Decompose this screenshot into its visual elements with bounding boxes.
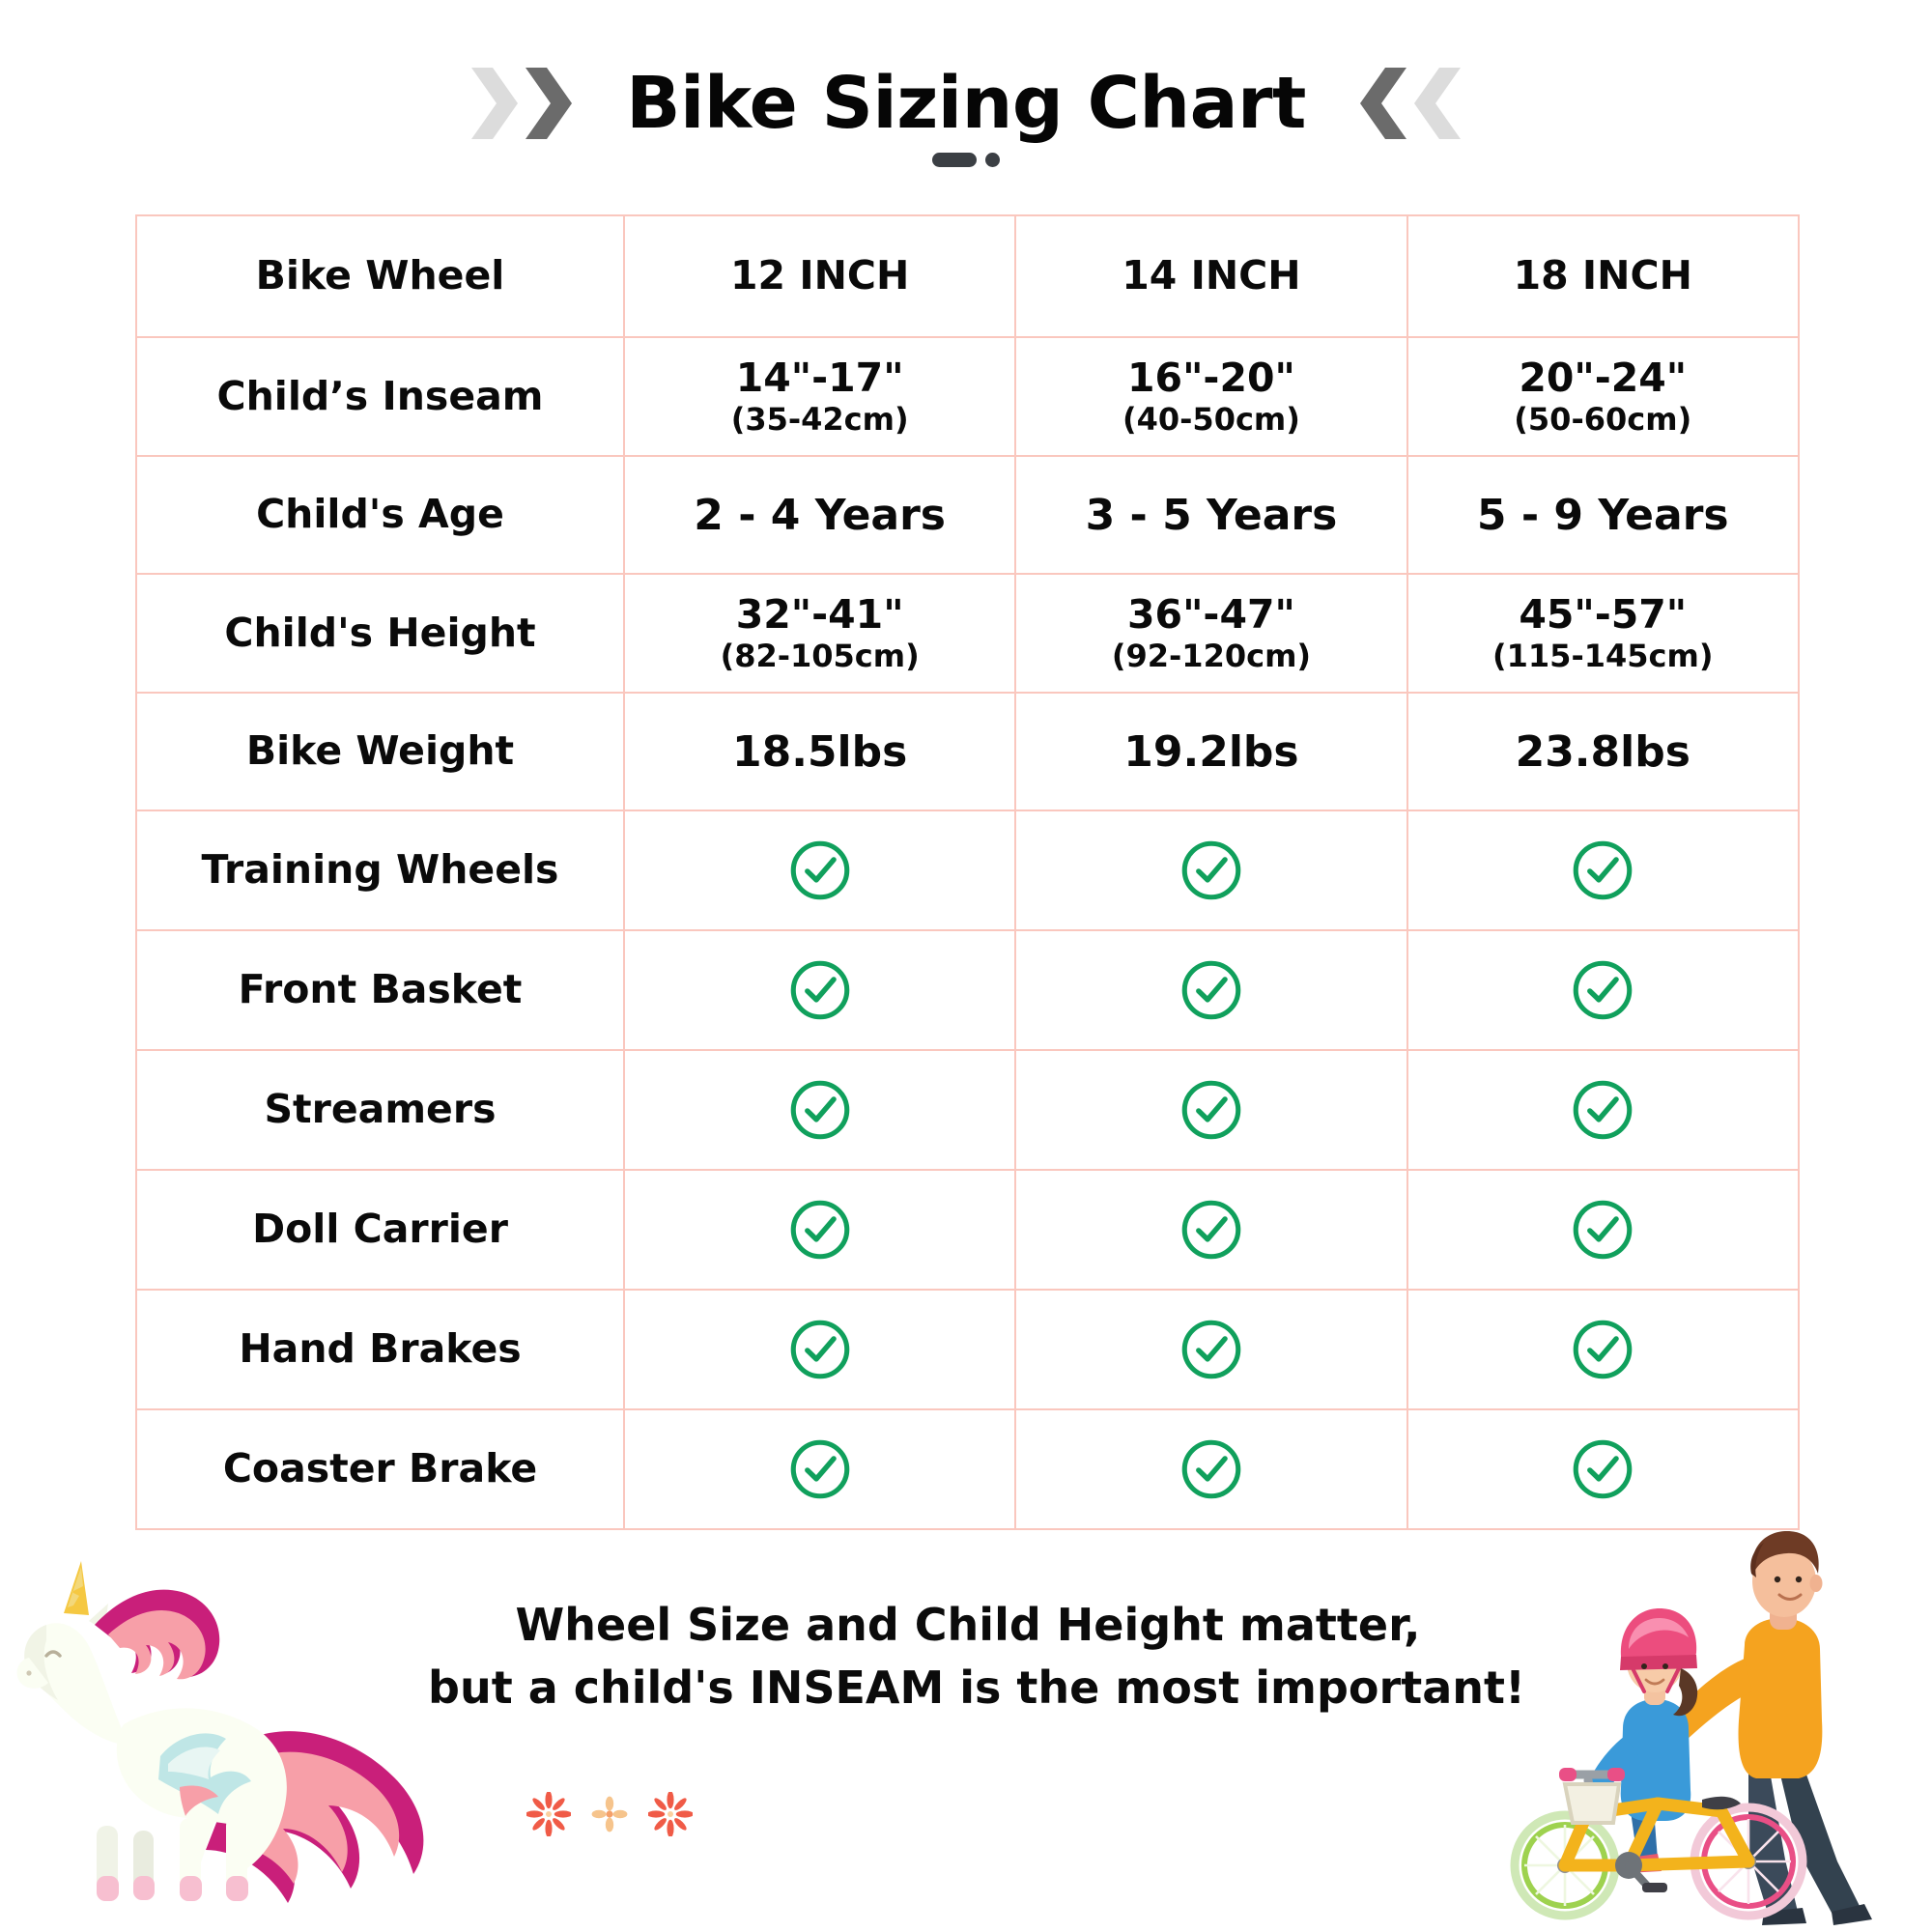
left-chevron-group	[468, 66, 574, 141]
cell-front-basket-18	[1407, 930, 1799, 1050]
column-header-14-inch: 14 INCH	[1015, 215, 1406, 337]
column-header-12-inch: 12 INCH	[624, 215, 1015, 337]
row-label-front-basket: Front Basket	[136, 930, 624, 1050]
cell-age-18: 5 - 9 Years	[1407, 456, 1799, 574]
check-circle-icon	[1179, 1437, 1243, 1501]
check-circle-icon	[788, 1198, 852, 1262]
check-circle-icon	[1179, 1318, 1243, 1381]
row-label-childs-age: Child's Age	[136, 456, 624, 574]
flower-red-icon	[526, 1792, 571, 1836]
column-header-18-inch: 18 INCH	[1407, 215, 1799, 337]
row-label-training-wheels: Training Wheels	[136, 810, 624, 930]
cell-doll-carrier-12	[624, 1170, 1015, 1290]
table-row-front-basket: Front Basket	[136, 930, 1799, 1050]
cell-hand-brakes-14	[1015, 1290, 1406, 1409]
cell-streamers-12	[624, 1050, 1015, 1170]
unicorn-illustration	[8, 1536, 471, 1922]
table-row-streamers: Streamers	[136, 1050, 1799, 1170]
cell-hand-brakes-12	[624, 1290, 1015, 1409]
chevron-right-light-icon	[468, 66, 520, 141]
parent-child-bike-illustration	[1459, 1521, 1922, 1932]
cell-inseam-18-cm: (50-60cm)	[1408, 402, 1798, 438]
table-row-childs-height: Child's Height 32"-41" (82-105cm) 36"-47…	[136, 574, 1799, 693]
cell-front-basket-12	[624, 930, 1015, 1050]
cell-weight-12: 18.5lbs	[624, 693, 1015, 810]
cell-coaster-brake-14	[1015, 1409, 1406, 1529]
cell-height-12-inches: 32"-41"	[736, 591, 904, 638]
check-circle-icon	[1179, 838, 1243, 902]
cell-height-14-inches: 36"-47"	[1127, 591, 1295, 638]
cell-inseam-14-inches: 16"-20"	[1127, 355, 1295, 401]
cell-hand-brakes-18	[1407, 1290, 1799, 1409]
row-label-childs-inseam: Child’s Inseam	[136, 337, 624, 456]
table-row-bike-weight: Bike Weight 18.5lbs 19.2lbs 23.8lbs	[136, 693, 1799, 810]
page-header: Bike Sizing Chart	[0, 50, 1932, 156]
cell-weight-14: 19.2lbs	[1015, 693, 1406, 810]
check-circle-icon	[788, 1437, 852, 1501]
cell-height-14-cm: (92-120cm)	[1016, 639, 1406, 674]
cell-streamers-14	[1015, 1050, 1406, 1170]
cell-height-18-inches: 45"-57"	[1519, 591, 1687, 638]
check-circle-icon	[788, 1318, 852, 1381]
table-row-hand-brakes: Hand Brakes	[136, 1290, 1799, 1409]
bike-sizing-chart-page: Bike Sizing Chart Bike Wheel 12 INCH 14 …	[0, 0, 1932, 1932]
check-circle-icon	[1571, 1078, 1634, 1142]
dot-decoration	[985, 153, 1000, 167]
table-row-childs-inseam: Child’s Inseam 14"-17" (35-42cm) 16"-20"…	[136, 337, 1799, 456]
cell-doll-carrier-14	[1015, 1170, 1406, 1290]
row-label-streamers: Streamers	[136, 1050, 624, 1170]
check-circle-icon	[1179, 1078, 1243, 1142]
flower-red-icon	[648, 1792, 693, 1836]
page-title: Bike Sizing Chart	[626, 68, 1306, 139]
check-circle-icon	[788, 1078, 852, 1142]
cell-inseam-18: 20"-24" (50-60cm)	[1407, 337, 1799, 456]
cell-training-wheels-12	[624, 810, 1015, 930]
bike-sizing-table: Bike Wheel 12 INCH 14 INCH 18 INCH Child…	[135, 214, 1800, 1530]
table-row-training-wheels: Training Wheels	[136, 810, 1799, 930]
title-underline-decoration	[932, 153, 1000, 167]
check-circle-icon	[1179, 958, 1243, 1022]
chevron-left-light-icon	[1412, 66, 1464, 141]
cell-age-14: 3 - 5 Years	[1015, 456, 1406, 574]
right-chevron-group	[1358, 66, 1464, 141]
chevron-right-dark-icon	[522, 66, 574, 141]
check-circle-icon	[1571, 1437, 1634, 1501]
cell-inseam-14: 16"-20" (40-50cm)	[1015, 337, 1406, 456]
check-circle-icon	[1571, 958, 1634, 1022]
cell-training-wheels-18	[1407, 810, 1799, 930]
check-circle-icon	[1571, 838, 1634, 902]
cell-height-18-cm: (115-145cm)	[1408, 639, 1798, 674]
table-row-header: Bike Wheel 12 INCH 14 INCH 18 INCH	[136, 215, 1799, 337]
table-row-childs-age: Child's Age 2 - 4 Years 3 - 5 Years 5 - …	[136, 456, 1799, 574]
row-label-doll-carrier: Doll Carrier	[136, 1170, 624, 1290]
cell-height-14: 36"-47" (92-120cm)	[1015, 574, 1406, 693]
dash-decoration	[932, 153, 977, 167]
cell-weight-18: 23.8lbs	[1407, 693, 1799, 810]
flower-decorations	[526, 1792, 693, 1836]
cell-height-18: 45"-57" (115-145cm)	[1407, 574, 1799, 693]
cell-streamers-18	[1407, 1050, 1799, 1170]
cell-inseam-18-inches: 20"-24"	[1519, 355, 1687, 401]
check-circle-icon	[1571, 1198, 1634, 1262]
sizing-table-container: Bike Wheel 12 INCH 14 INCH 18 INCH Child…	[135, 214, 1798, 1530]
table-row-doll-carrier: Doll Carrier	[136, 1170, 1799, 1290]
cell-inseam-12-inches: 14"-17"	[736, 355, 904, 401]
cell-coaster-brake-12	[624, 1409, 1015, 1529]
cell-front-basket-14	[1015, 930, 1406, 1050]
check-circle-icon	[1179, 1198, 1243, 1262]
row-label-hand-brakes: Hand Brakes	[136, 1290, 624, 1409]
row-label-bike-weight: Bike Weight	[136, 693, 624, 810]
flower-peach-icon	[590, 1795, 629, 1833]
cell-height-12-cm: (82-105cm)	[625, 639, 1014, 674]
row-label-childs-height: Child's Height	[136, 574, 624, 693]
row-label-bike-wheel: Bike Wheel	[136, 215, 624, 337]
chevron-left-dark-icon	[1358, 66, 1410, 141]
row-label-coaster-brake: Coaster Brake	[136, 1409, 624, 1529]
cell-age-12: 2 - 4 Years	[624, 456, 1015, 574]
cell-coaster-brake-18	[1407, 1409, 1799, 1529]
cell-inseam-14-cm: (40-50cm)	[1016, 402, 1406, 438]
check-circle-icon	[1571, 1318, 1634, 1381]
cell-height-12: 32"-41" (82-105cm)	[624, 574, 1015, 693]
table-row-coaster-brake: Coaster Brake	[136, 1409, 1799, 1529]
check-circle-icon	[788, 838, 852, 902]
cell-doll-carrier-18	[1407, 1170, 1799, 1290]
cell-inseam-12-cm: (35-42cm)	[625, 402, 1014, 438]
cell-training-wheels-14	[1015, 810, 1406, 930]
check-circle-icon	[788, 958, 852, 1022]
cell-inseam-12: 14"-17" (35-42cm)	[624, 337, 1015, 456]
